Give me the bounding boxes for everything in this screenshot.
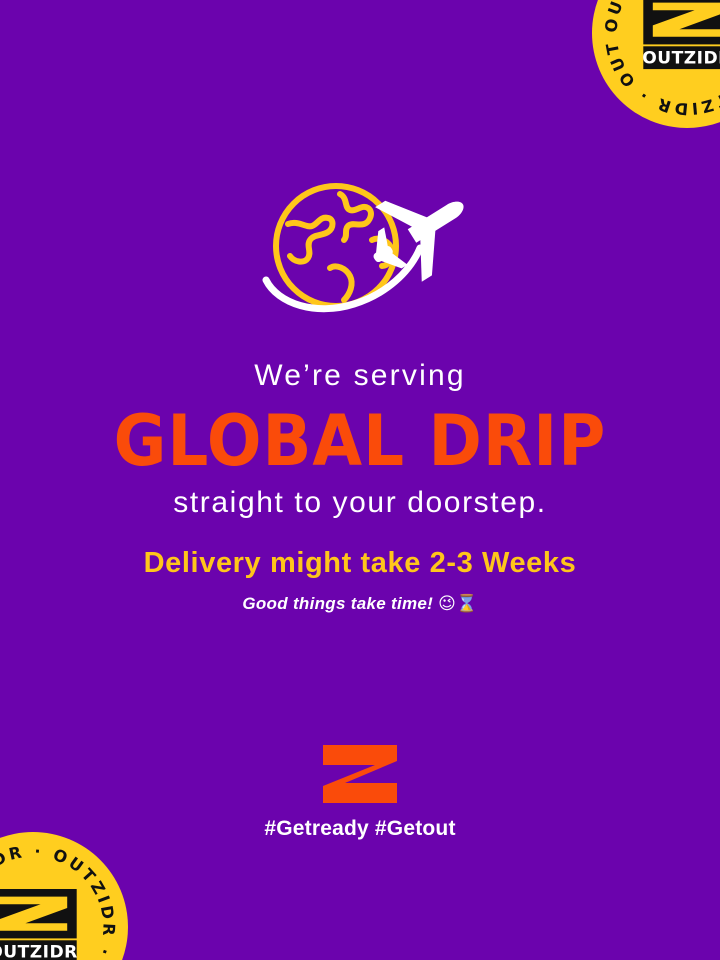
delivery-notice-block: Delivery might take 2-3 Weeks Good thing… <box>0 548 720 614</box>
kicker-text: We’re serving <box>0 360 720 392</box>
delivery-note-text: Good things take time! 😉⌛ <box>0 595 720 614</box>
hashtags-text: #Getready #Getout <box>0 817 720 841</box>
promo-poster: OUTZIDR · OUTZIDR · OUTZIDR · OUTZIDR · … <box>0 0 720 960</box>
delivery-note-label: Good things take time! <box>242 594 433 613</box>
delivery-time-text: Delivery might take 2-3 Weeks <box>0 548 720 580</box>
headline-block: We’re serving GLOBAL DRIP straight to yo… <box>0 360 720 518</box>
footer-brand-block: #Getready #Getout <box>0 745 720 841</box>
outzidr-seal-bottom-left: OUTZIDR · OUTZIDR · OUTZIDR · OUTZIDR · … <box>0 832 128 960</box>
wink-hourglass-emoji: 😉⌛ <box>438 594 478 614</box>
hero-icon-wrap <box>0 176 720 336</box>
z-logo-mark <box>321 745 399 803</box>
subline-text: straight to your doorstep. <box>0 487 720 519</box>
seal-wordmark: OUTZIDR <box>642 48 720 68</box>
globe-airplane-icon <box>244 176 476 336</box>
outzidr-seal-top-right: OUTZIDR · OUTZIDR · OUTZIDR · OUTZIDR · … <box>592 0 720 128</box>
seal-wordmark: OUTZIDR <box>0 942 78 960</box>
headline-text: GLOBAL DRIP <box>0 406 720 477</box>
